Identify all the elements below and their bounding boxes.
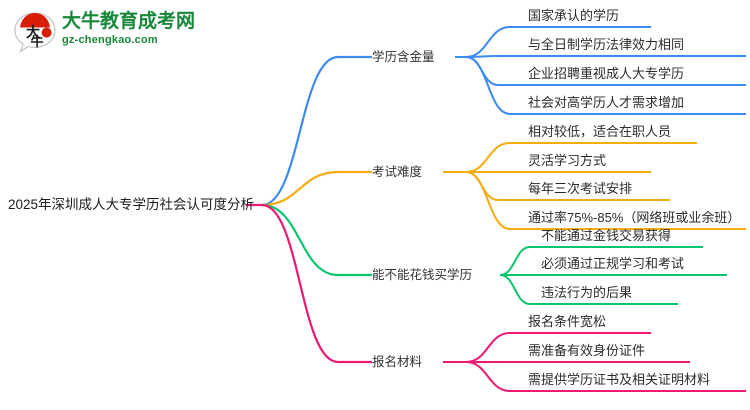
branch-label-2[interactable]: 能不能花钱买学历 bbox=[372, 269, 472, 282]
branch-label-1[interactable]: 考试难度 bbox=[372, 166, 422, 179]
wire-branch-2-child-0 bbox=[500, 247, 535, 275]
leaf-label-0-3[interactable]: 社会对高学历人才需求增加 bbox=[528, 96, 684, 109]
wire-root-to-branch-3 bbox=[262, 205, 372, 362]
wire-root-to-branch-1 bbox=[262, 172, 372, 205]
leaf-label-0-2[interactable]: 企业招聘重视成人大专学历 bbox=[528, 67, 684, 80]
leaf-label-1-3[interactable]: 通过率75%-85%（网络班或业余班） bbox=[528, 211, 740, 224]
leaf-label-3-1[interactable]: 需准备有效身份证件 bbox=[528, 344, 645, 357]
leaf-label-2-1[interactable]: 必须通过正规学习和考试 bbox=[541, 257, 684, 270]
wire-branch-0-child-1 bbox=[466, 56, 521, 57]
leaf-label-2-0[interactable]: 不能通过金钱交易获得 bbox=[541, 229, 671, 242]
leaf-label-2-2[interactable]: 违法行为的后果 bbox=[541, 286, 632, 299]
mindmap-canvas: 大 牛 大牛教育成考网 gz-chengkao.com bbox=[0, 0, 750, 410]
branch-label-0[interactable]: 学历含金量 bbox=[372, 51, 435, 64]
leaf-label-0-1[interactable]: 与全日制学历法律效力相同 bbox=[528, 38, 684, 51]
leaf-label-0-0[interactable]: 国家承认的学历 bbox=[528, 9, 619, 22]
leaf-label-1-2[interactable]: 每年三次考试安排 bbox=[528, 182, 632, 195]
wire-branch-2-child-2 bbox=[500, 275, 535, 304]
wire-branch-1-child-0 bbox=[466, 143, 521, 172]
leaf-label-3-0[interactable]: 报名条件宽松 bbox=[528, 315, 606, 328]
leaf-label-1-1[interactable]: 灵活学习方式 bbox=[528, 154, 606, 167]
leaf-label-3-2[interactable]: 需提供学历证书及相关证明材料 bbox=[528, 373, 710, 386]
branch-label-3[interactable]: 报名材料 bbox=[372, 356, 422, 369]
leaf-label-1-0[interactable]: 相对较低，适合在职人员 bbox=[528, 125, 671, 138]
root-node-label[interactable]: 2025年深圳成人大专学历社会认可度分析 bbox=[8, 198, 254, 212]
wire-branch-0-child-0 bbox=[466, 27, 521, 57]
wire-branch-3-child-0 bbox=[466, 333, 521, 362]
wire-root-to-branch-0 bbox=[262, 57, 372, 205]
wire-branch-3-child-2 bbox=[466, 362, 521, 391]
